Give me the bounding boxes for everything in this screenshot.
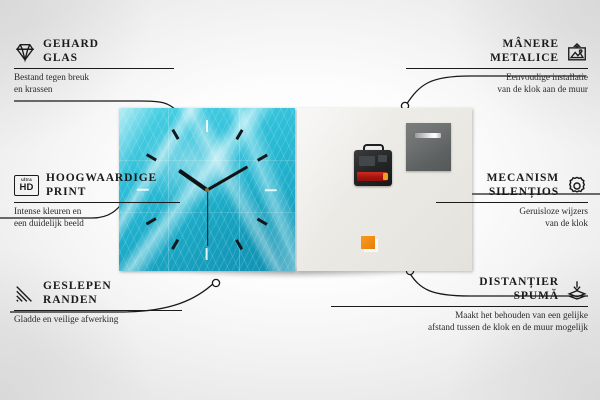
mechanism-detail-b xyxy=(378,155,387,162)
callout-distantier-spuma: DISTANȚIER SPUMĂ Maakt het behouden van … xyxy=(323,276,588,333)
callout-description: Eenvoudige installatie van de klok aan d… xyxy=(398,72,588,95)
hanger-slot xyxy=(415,133,441,138)
callout-description: Bestand tegen breuk en krassen xyxy=(14,72,184,95)
callout-head-manere-metalice: MÂNERE METALICE xyxy=(398,38,588,65)
callout-head-gehard-glas: GEHARD GLAS xyxy=(14,38,184,65)
callout-manere-metalice: MÂNERE METALICE Eenvoudige installatie v… xyxy=(398,38,588,95)
callout-rule xyxy=(406,68,588,69)
callout-title: HOOGWAARDIGE PRINT xyxy=(46,172,157,199)
metal-hanger-plate xyxy=(406,123,451,171)
callout-title: GESLEPEN RANDEN xyxy=(43,280,112,307)
callout-title: DISTANȚIER SPUMĂ xyxy=(479,276,559,303)
callout-geslepen-randen: GESLEPEN RANDEN Gladde en veilige afwerk… xyxy=(14,280,192,326)
clock-center-cap xyxy=(205,188,209,192)
ultra-hd-icon: ultra HD xyxy=(14,175,39,196)
gear-icon xyxy=(566,175,588,197)
clock-tick xyxy=(265,189,277,191)
picture-frame-icon xyxy=(566,41,588,63)
callout-description: Gladde en veilige afwerking xyxy=(14,314,192,326)
orange-foam-spacer xyxy=(361,236,375,249)
callout-title: MÂNERE METALICE xyxy=(490,38,559,65)
callout-gehard-glas: GEHARD GLAS Bestand tegen breuk en krass… xyxy=(14,38,184,95)
callout-description: Maakt het behouden van een gelijke afsta… xyxy=(323,310,588,333)
callout-rule xyxy=(436,202,588,203)
clock-second-hand xyxy=(207,190,208,246)
callout-description: Intense kleuren en een duidelijk beeld xyxy=(14,206,194,229)
callout-rule xyxy=(14,310,182,311)
callout-head-distantier-spuma: DISTANȚIER SPUMĂ xyxy=(323,276,588,303)
callout-rule xyxy=(14,202,180,203)
callout-head-geslepen-randen: GESLEPEN RANDEN xyxy=(14,280,192,307)
ultra-hd-icon-hd: HD xyxy=(19,183,33,193)
callout-head-hoogwaardige-print: ultra HD HOOGWAARDIGE PRINT xyxy=(14,172,194,199)
glass-seam-top xyxy=(119,160,295,161)
callout-mecanism-silentios: MECANISM SILENȚIOS Geruisloze wijzers va… xyxy=(428,172,588,229)
battery-terminal xyxy=(383,173,388,180)
spacer-arrow-icon xyxy=(566,279,588,301)
mechanism-detail-a xyxy=(359,156,375,166)
infographic-canvas: GEHARD GLAS Bestand tegen breuk en krass… xyxy=(0,0,600,400)
callout-title: GEHARD GLAS xyxy=(43,38,99,65)
callout-hoogwaardige-print: ultra HD HOOGWAARDIGE PRINT Intense kleu… xyxy=(14,172,194,229)
aa-battery xyxy=(357,172,387,181)
clock-tick xyxy=(206,120,208,132)
callout-head-mecanism-silentios: MECANISM SILENȚIOS xyxy=(428,172,588,199)
callout-title: MECANISM SILENȚIOS xyxy=(487,172,559,199)
callout-rule xyxy=(14,68,174,69)
callout-description: Geruisloze wijzers van de klok xyxy=(428,206,588,229)
clock-tick xyxy=(206,248,208,260)
beveled-edges-icon xyxy=(14,283,36,305)
callout-rule xyxy=(331,306,588,307)
diamond-icon xyxy=(14,41,36,63)
